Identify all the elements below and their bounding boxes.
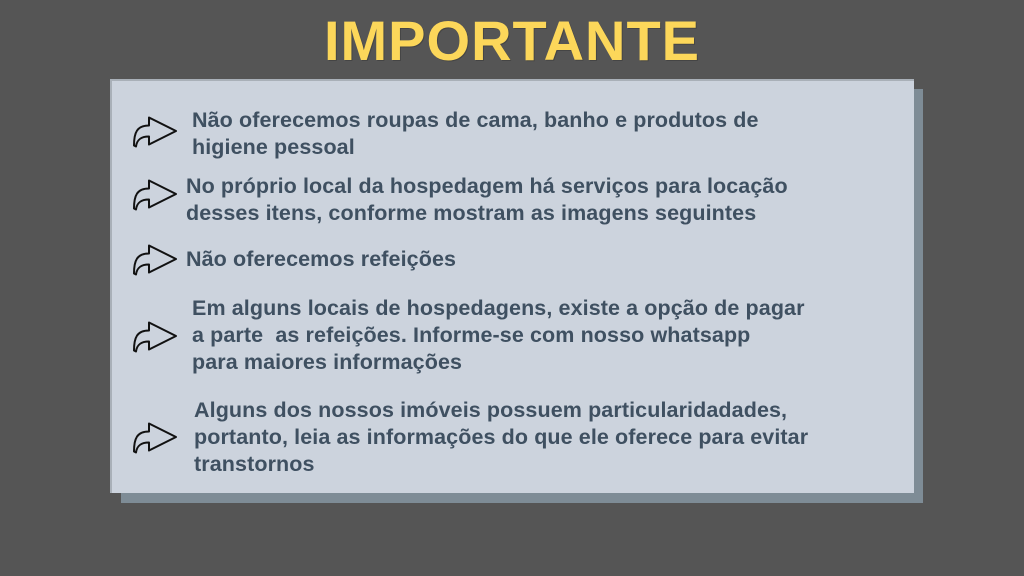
list-item: No próprio local da hospedagem há serviç…	[130, 173, 896, 227]
content-panel: Não oferecemos roupas de cama, banho e p…	[110, 79, 914, 493]
list-item: Não oferecemos refeições	[130, 239, 896, 279]
list-item-label: Em alguns locais de hospedagens, existe …	[192, 295, 896, 376]
page-title: IMPORTANTE	[0, 12, 1024, 71]
curved-right-arrow-icon	[130, 239, 180, 279]
list-item: Alguns dos nossos imóveis possuem partic…	[130, 397, 896, 478]
list-item: Não oferecemos roupas de cama, banho e p…	[130, 107, 896, 161]
list-item-label: No próprio local da hospedagem há serviç…	[186, 173, 896, 227]
slide-canvas: IMPORTANTE Não oferecemos roupas de cama…	[0, 0, 1024, 576]
list-item: Em alguns locais de hospedagens, existe …	[130, 295, 896, 376]
list-item-label: Não oferecemos roupas de cama, banho e p…	[192, 107, 896, 161]
curved-right-arrow-icon	[130, 417, 180, 457]
curved-right-arrow-icon	[130, 111, 180, 151]
curved-right-arrow-icon	[130, 174, 180, 214]
list-item-label: Não oferecemos refeições	[186, 246, 896, 273]
bullet-list: Não oferecemos roupas de cama, banho e p…	[130, 107, 896, 495]
curved-right-arrow-icon	[130, 316, 180, 356]
list-item-label: Alguns dos nossos imóveis possuem partic…	[194, 397, 896, 478]
